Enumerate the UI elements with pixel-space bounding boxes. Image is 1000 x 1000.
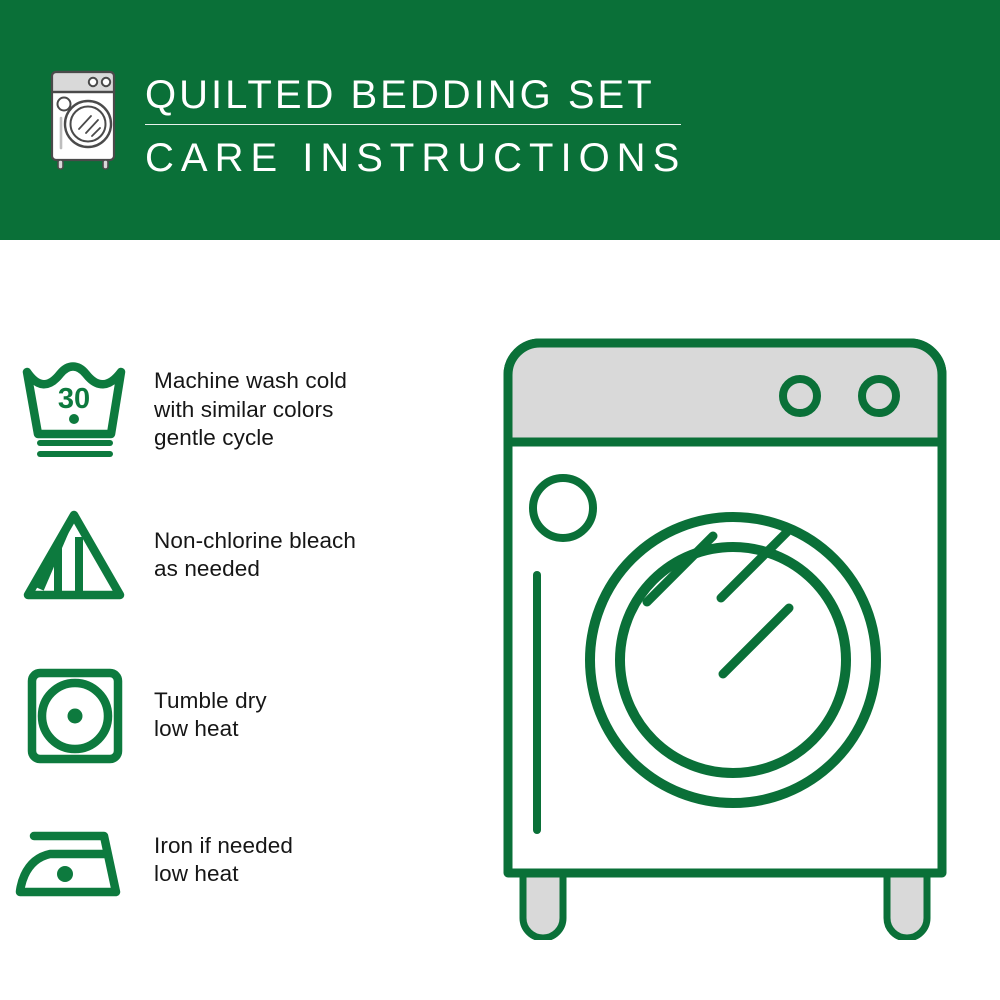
care-label-iron: Iron if needed low heat bbox=[150, 832, 293, 889]
page-subtitle: CARE INSTRUCTIONS bbox=[145, 135, 705, 181]
machine-indicator-circle bbox=[533, 478, 593, 538]
iron-low-heat-icon bbox=[0, 800, 150, 920]
care-row-bleach: Non-chlorine bleach as needed bbox=[0, 485, 500, 625]
title-divider bbox=[145, 124, 681, 125]
washing-machine-icon bbox=[46, 68, 122, 172]
care-label-wash: Machine wash cold with similar colors ge… bbox=[150, 367, 347, 453]
care-instructions-list: 30 Machine wash cold with similar colors… bbox=[0, 240, 500, 1000]
header-titles: QUILTED BEDDING SET CARE INSTRUCTIONS bbox=[145, 72, 705, 181]
non-chlorine-bleach-triangle-icon bbox=[0, 495, 150, 615]
tumble-dry-low-icon bbox=[0, 655, 150, 775]
care-row-iron: Iron if needed low heat bbox=[0, 790, 500, 930]
care-instructions-infographic: QUILTED BEDDING SET CARE INSTRUCTIONS 30 bbox=[0, 0, 1000, 1000]
care-row-wash: 30 Machine wash cold with similar colors… bbox=[0, 340, 500, 480]
care-row-tumble-dry: Tumble dry low heat bbox=[0, 645, 500, 785]
care-label-bleach: Non-chlorine bleach as needed bbox=[150, 527, 356, 584]
page-title: QUILTED BEDDING SET bbox=[145, 72, 705, 118]
machine-knob-right bbox=[862, 379, 896, 413]
care-label-tumble-dry: Tumble dry low heat bbox=[150, 687, 267, 744]
wash-tub-30-icon: 30 bbox=[0, 350, 150, 470]
machine-legs bbox=[523, 870, 927, 938]
wash-temperature-value: 30 bbox=[58, 383, 90, 415]
machine-knob-left bbox=[783, 379, 817, 413]
header-band: QUILTED BEDDING SET CARE INSTRUCTIONS bbox=[0, 0, 1000, 240]
washing-machine-illustration bbox=[495, 330, 975, 940]
